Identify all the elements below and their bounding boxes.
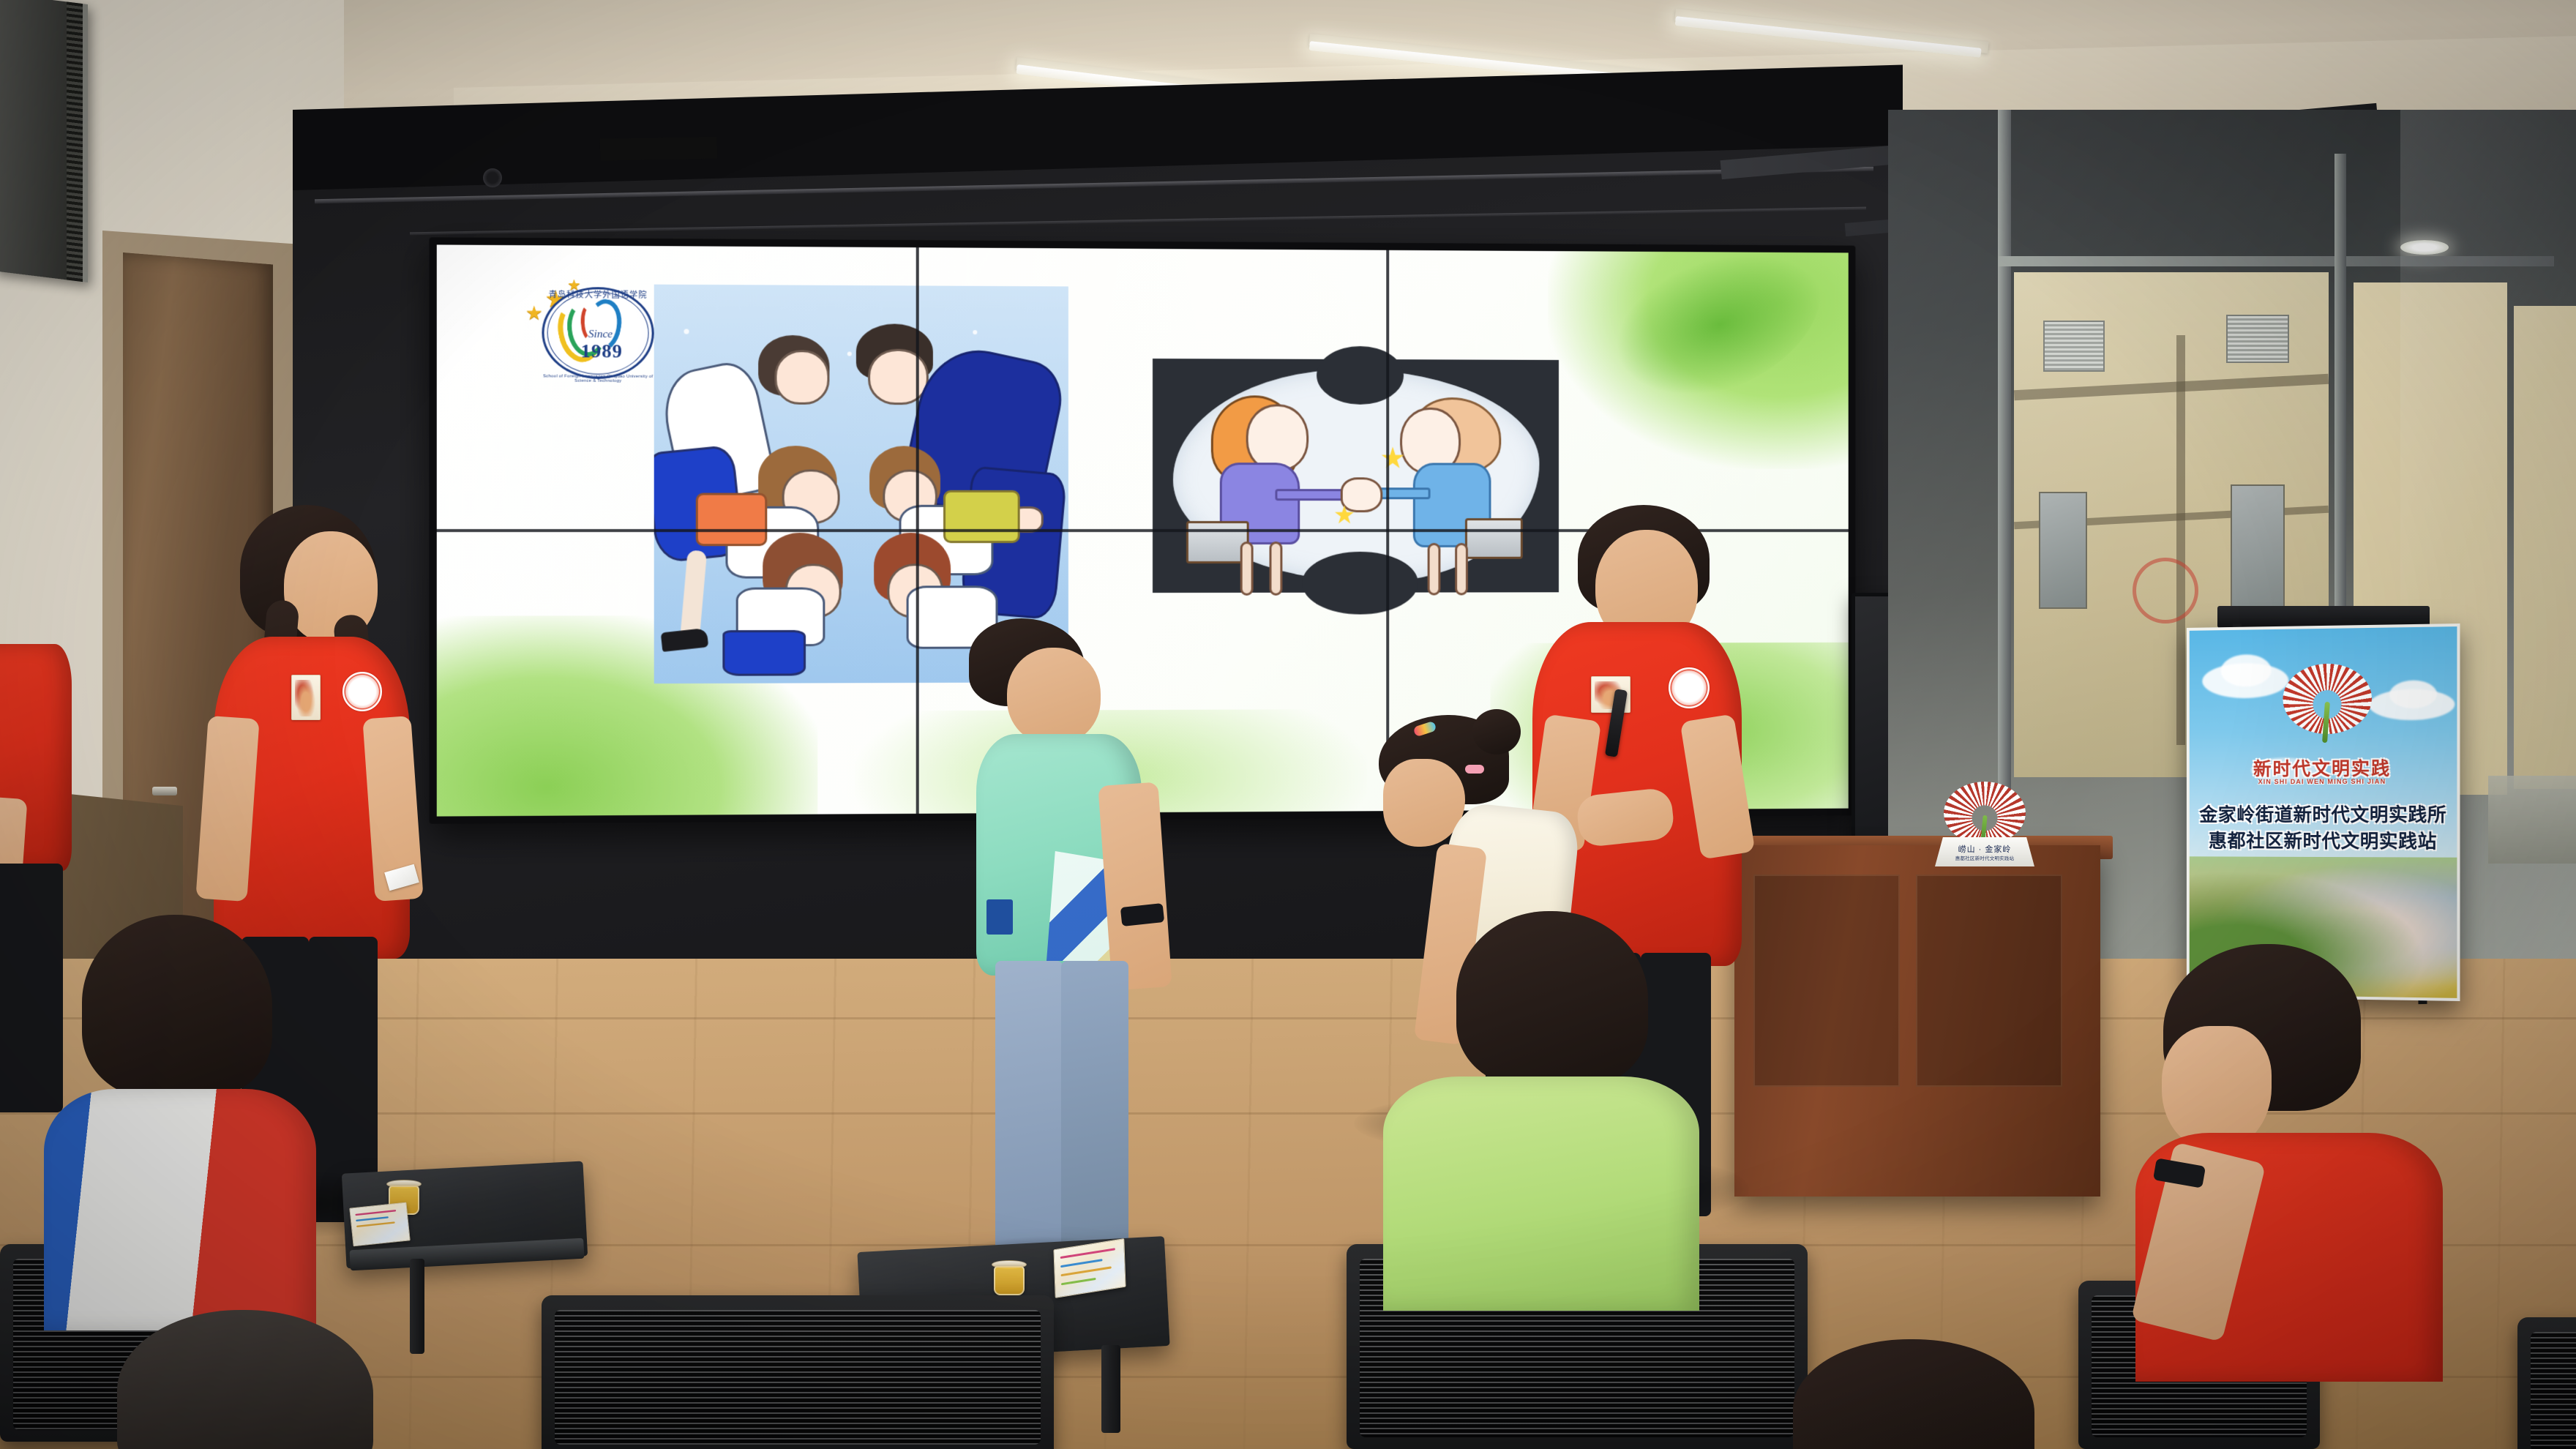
- downlight: [2400, 240, 2449, 255]
- chest-emblem: [1669, 667, 1710, 708]
- logo-chinese-name: 青岛科技大学外国语学院: [542, 288, 654, 301]
- wooden-podium: [1734, 845, 2100, 1197]
- hair: [1456, 911, 1648, 1087]
- chair-mesh: [555, 1310, 1041, 1445]
- desk-leg: [1101, 1345, 1120, 1433]
- chair-mesh: [2531, 1332, 2576, 1449]
- ceiling-camera: [483, 168, 502, 187]
- slide-backpack-orange: [696, 493, 768, 547]
- chair-back[interactable]: [542, 1295, 1054, 1449]
- green-tshirt: [1383, 1077, 1699, 1311]
- hair-bun: [1472, 709, 1521, 755]
- interior-door-panel[interactable]: [2514, 306, 2576, 789]
- university-logo: ★ ★ ★ 青岛科技大学外国语学院 Since 1989 School of F…: [525, 281, 659, 386]
- standing-poster: 新时代文明实践 XIN SHI DAI WEN MING SHI JIAN 金家…: [2187, 624, 2460, 1001]
- meeting-room-photo: ★ ★ ★ 青岛科技大学外国语学院 Since 1989 School of F…: [0, 0, 2576, 1449]
- poster-line-2: 惠都社区新时代文明实践站: [2190, 826, 2457, 854]
- poster-brand-pinyin: XIN SHI DAI WEN MING SHI JIAN: [2190, 777, 2457, 785]
- leg: [0, 864, 63, 1112]
- speaker-grille: [67, 1, 83, 282]
- slide-briefcase-right: [1465, 518, 1523, 559]
- chair-back[interactable]: [2517, 1317, 2576, 1449]
- trophy-title: 崂山 · 金家岭: [1935, 843, 2034, 855]
- hair: [82, 915, 272, 1098]
- jeans-left: [995, 961, 1063, 1268]
- podium-panel: [1753, 875, 1900, 1087]
- face: [1007, 648, 1101, 744]
- star-icon: ★: [525, 303, 543, 322]
- logo-english-name: School of Foreign Languages Qingdao Univ…: [542, 374, 654, 383]
- door-handle[interactable]: [152, 787, 177, 795]
- logo-since-label: Since: [588, 329, 613, 341]
- wall-vent: [600, 137, 717, 161]
- desk-leg: [410, 1259, 424, 1354]
- red-seal-stamp: [2133, 558, 2198, 624]
- badge-artwork: [295, 680, 317, 716]
- blob-notch-top: [1317, 346, 1404, 405]
- shirt-tag: [986, 899, 1013, 935]
- slide-backpack-yellow: [943, 490, 1020, 543]
- slide-illustration-handshake: ★ ★: [1153, 359, 1559, 593]
- wall-speaker: [0, 0, 88, 282]
- raglan-tshirt: [44, 1089, 316, 1330]
- poster-line-1: 金家岭街道新时代文明实践所: [2190, 800, 2457, 827]
- chest-emblem: [342, 672, 382, 711]
- logo-year: 1989: [581, 340, 623, 363]
- trophy-subtitle: 惠都社区新时代文明实践站: [1935, 854, 2034, 861]
- podium-panel: [1916, 875, 2062, 1087]
- blob-notch-bottom: [1302, 552, 1418, 615]
- jeans-right: [1061, 961, 1128, 1268]
- leaflet[interactable]: [349, 1202, 410, 1247]
- award-trophy: 崂山 · 金家岭 惠都社区新时代文明实践站: [1912, 782, 2058, 866]
- name-badge: [291, 675, 321, 720]
- window-mullion: [1998, 256, 2554, 266]
- hair-tie: [1465, 765, 1484, 774]
- reflected-signage: [2488, 776, 2576, 864]
- jelly-cup[interactable]: [994, 1266, 1025, 1295]
